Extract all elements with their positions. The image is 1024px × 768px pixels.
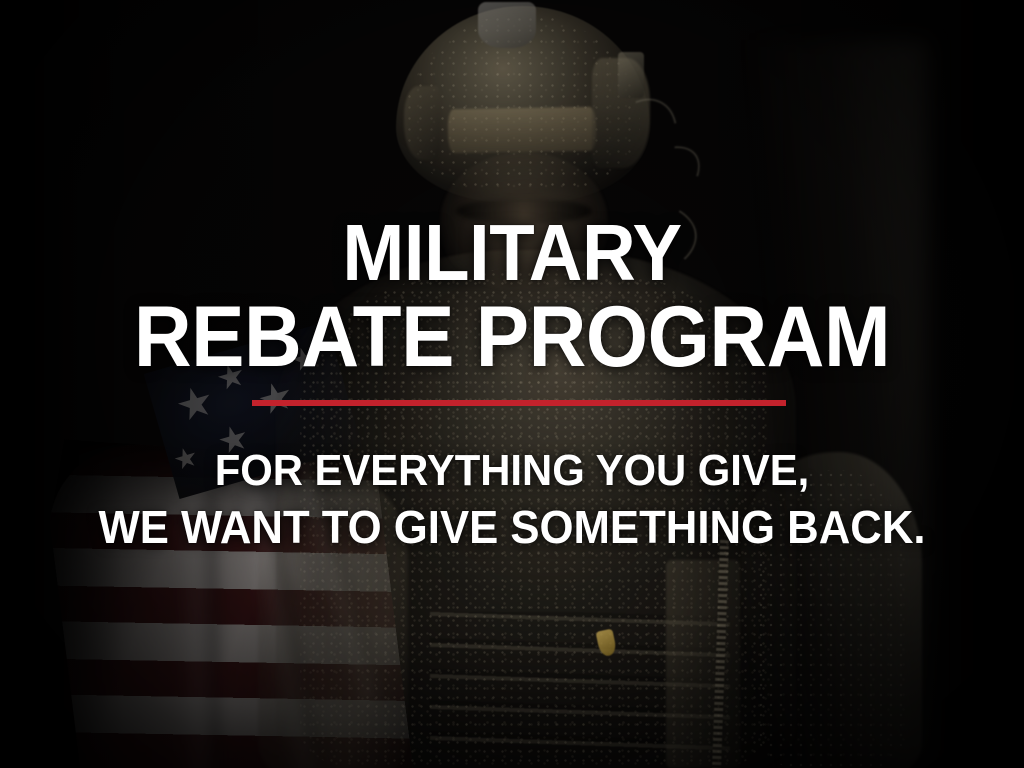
helmet-battery-pack: [618, 52, 644, 98]
headline-line-1: MILITARY: [36, 214, 988, 292]
red-rule-divider: [252, 400, 786, 406]
nvg-mount-icon: [478, 2, 536, 48]
subheadline-line-1: FOR EVERYTHING YOU GIVE,: [26, 446, 999, 496]
flag-star: [174, 383, 216, 425]
subheadline-line-2: WE WANT TO GIVE SOMETHING BACK.: [26, 500, 999, 554]
helmet-rail-left: [404, 86, 440, 160]
gear-pouch: [666, 560, 740, 768]
helmet-loop-panel: [448, 107, 597, 154]
headline-line-2: REBATE PROGRAM: [36, 296, 988, 379]
military-rebate-poster: MILITARY REBATE PROGRAM FOR EVERYTHING Y…: [0, 0, 1024, 768]
